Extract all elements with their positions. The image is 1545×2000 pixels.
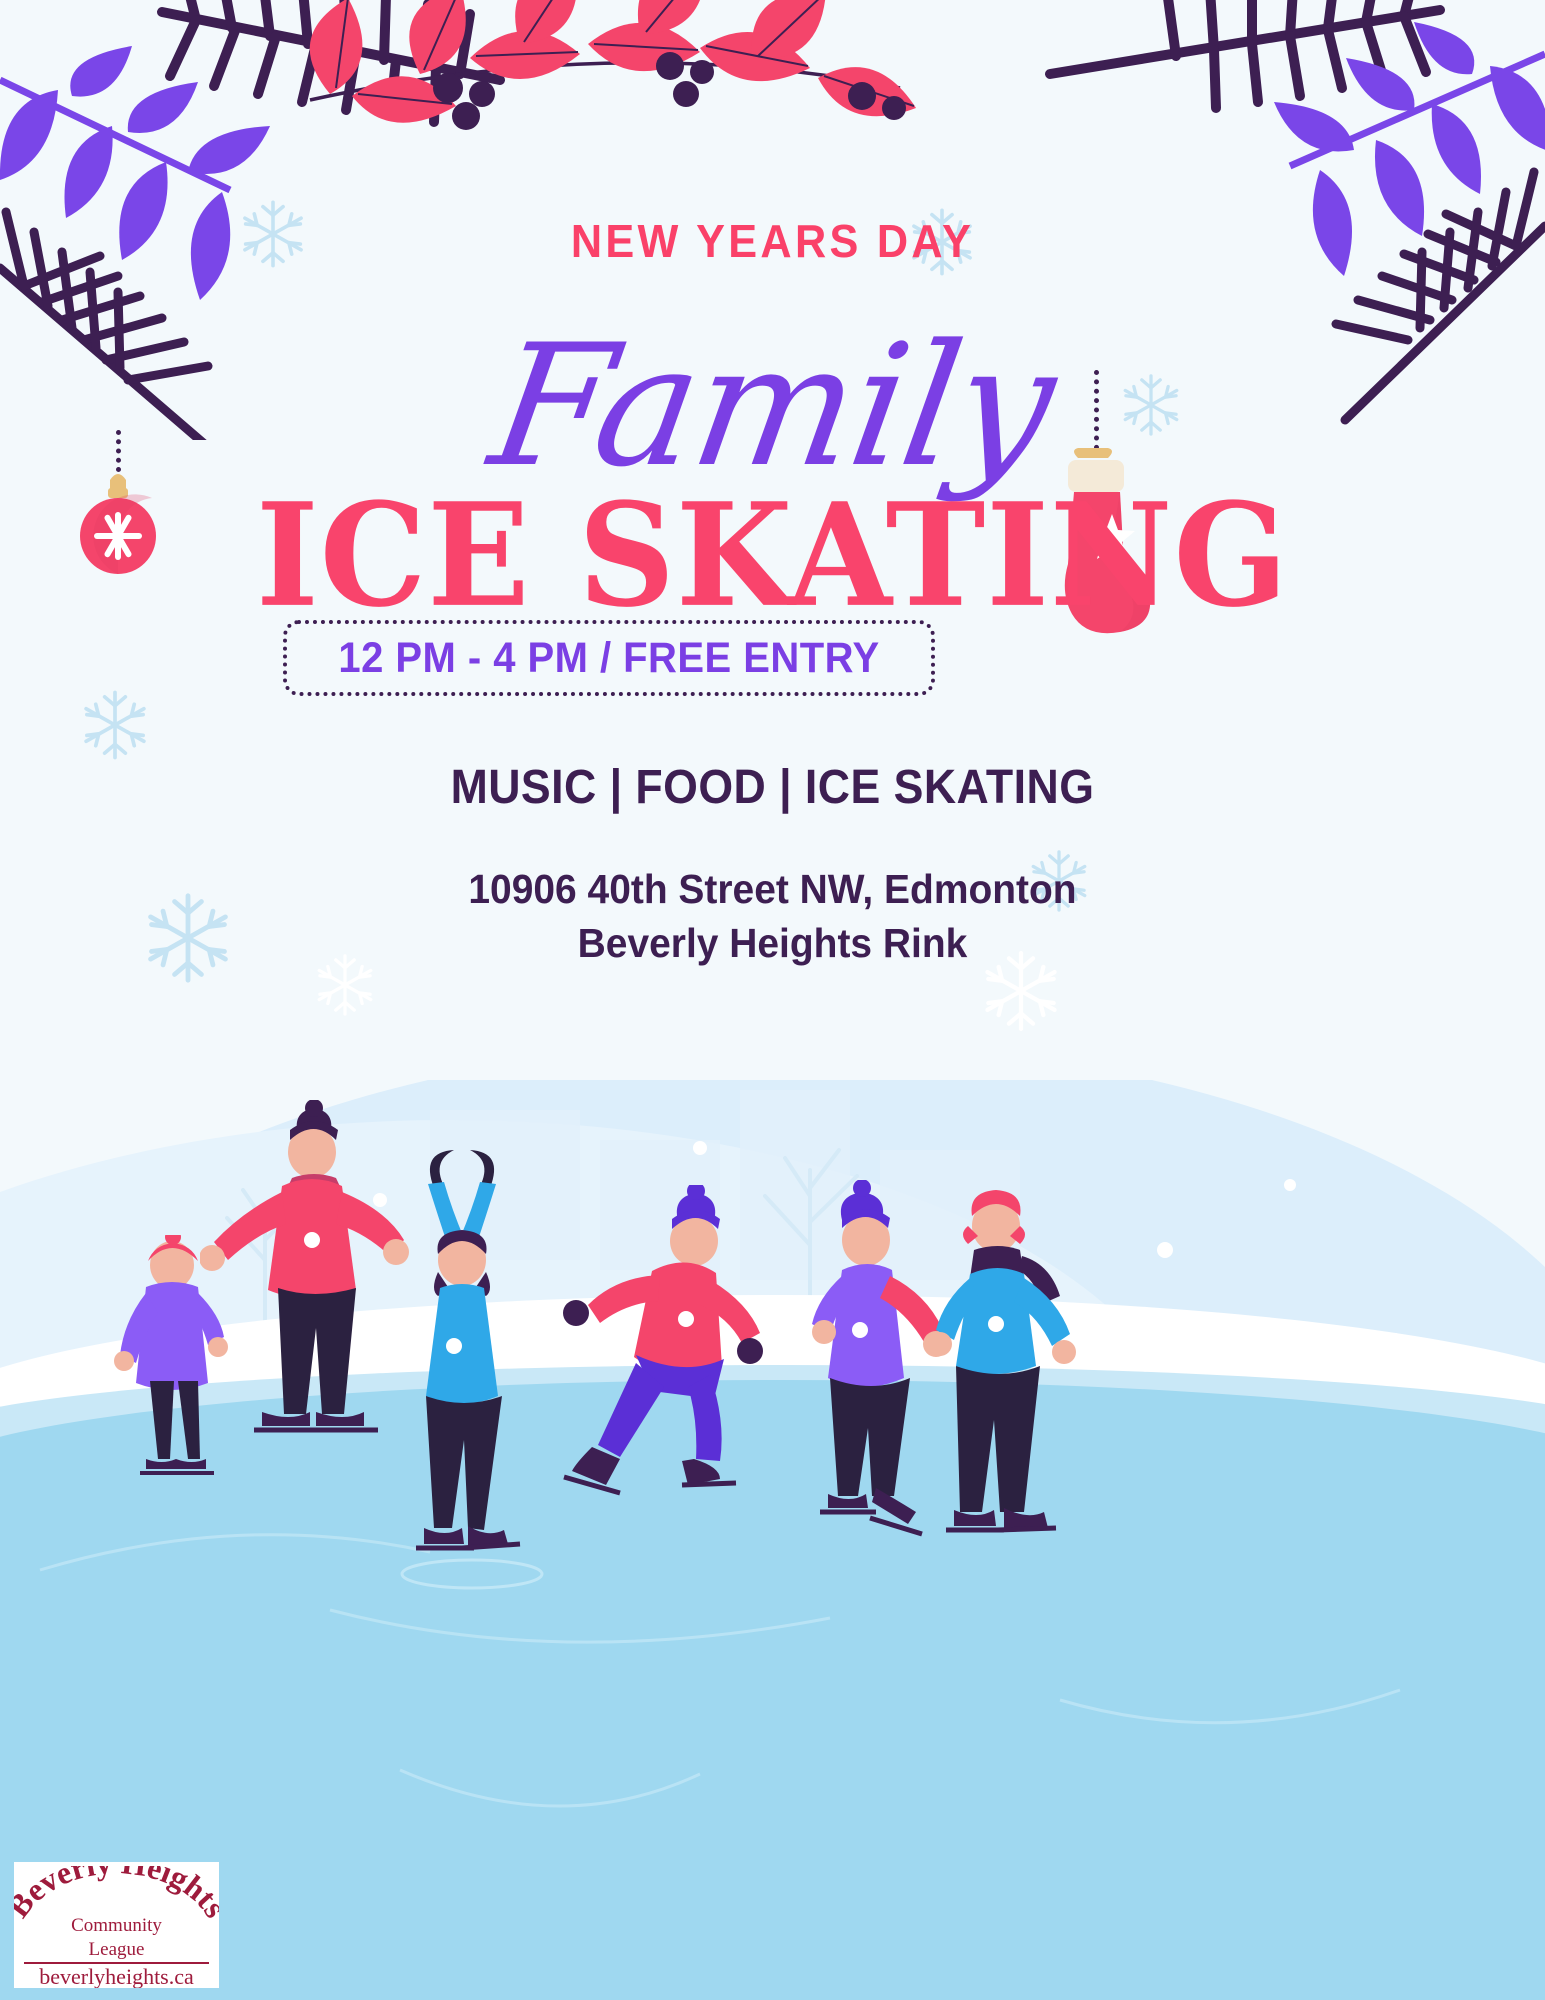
skater-leaning (560, 1185, 790, 1525)
community-league-logo: Beverly Heights Community League beverly… (14, 1862, 219, 1988)
skater-blue-scarf (910, 1178, 1110, 1628)
skater-arms-up (380, 1150, 560, 1630)
address-line-2: Beverly Heights Rink (39, 916, 1507, 970)
dark-fern-right (1050, 0, 1440, 108)
logo-subtitle-line2: League (14, 1938, 219, 1962)
snowflake-icon (78, 688, 152, 762)
pink-berry-branch-center (310, 0, 916, 130)
winter-scene (0, 1080, 1545, 2000)
poster-root: NEW YEARS DAY Family ICE SKATING 12 PM -… (0, 0, 1545, 2000)
time-entry-text: 12 PM - 4 PM / FREE ENTRY (338, 634, 879, 683)
eyebrow-text: NEW YEARS DAY (46, 214, 1498, 268)
logo-website-url: beverlyheights.ca (14, 1964, 219, 1988)
logo-subtitle: Community League (14, 1914, 219, 1962)
dark-fern-center-left (162, 0, 500, 122)
script-heading: Family (0, 322, 1545, 490)
page-title: ICE SKATING (0, 484, 1545, 626)
address-block: 10906 40th Street NW, Edmonton Beverly H… (39, 862, 1507, 970)
features-text: MUSIC | FOOD | ICE SKATING (54, 760, 1491, 815)
skater-adult-red (200, 1100, 410, 1500)
time-entry-badge: 12 PM - 4 PM / FREE ENTRY (283, 620, 935, 696)
address-line-1: 10906 40th Street NW, Edmonton (39, 862, 1507, 916)
logo-subtitle-line1: Community (14, 1914, 219, 1938)
